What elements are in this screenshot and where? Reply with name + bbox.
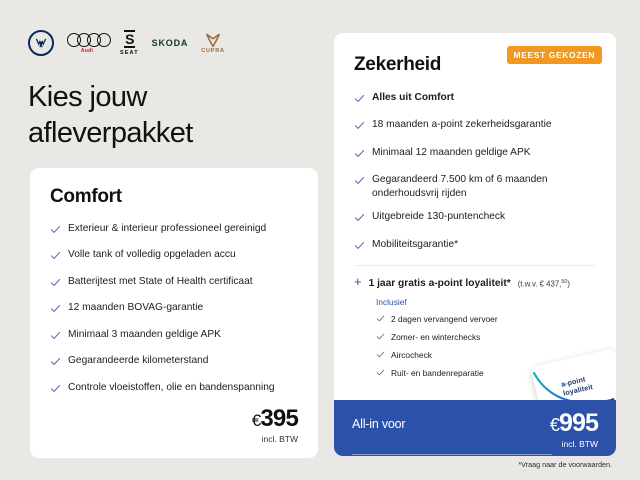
- feature-label: 18 maanden a-point zekerheidsgarantie: [372, 118, 552, 131]
- sub-feature-label: 2 dagen vervangend vervoer: [391, 314, 498, 324]
- list-item: 12 maanden BOVAG-garantie: [50, 301, 298, 318]
- check-icon: [376, 348, 385, 361]
- feature-label: Minimaal 12 maanden geldige APK: [372, 146, 531, 159]
- check-icon: [354, 146, 365, 163]
- feature-label: Mobiliteitsgarantie*: [372, 238, 458, 251]
- check-icon: [354, 91, 365, 108]
- page-title: Kies jouw afleverpakket: [28, 80, 318, 152]
- feature-label: Controle vloeistoffen, olie en bandenspa…: [68, 381, 275, 394]
- comfort-price: €395: [50, 407, 298, 431]
- comfort-feature-list: Exterieur & interieur professioneel gere…: [50, 222, 298, 398]
- brand-logo-row: Audi S SEAT SKODA CUPRA: [28, 30, 225, 56]
- list-item: Mobiliteitsgarantie*: [354, 238, 596, 255]
- check-icon: [354, 238, 365, 255]
- status-badge: MEEST GEKOZEN: [507, 46, 602, 64]
- cupra-wordmark: CUPRA: [201, 48, 225, 54]
- feature-label: Batterijtest met State of Health certifi…: [68, 275, 253, 288]
- zekerheid-package-card[interactable]: MEEST GEKOZEN Zekerheid Alles uit Comfor…: [334, 33, 616, 443]
- loyalty-value-prefix: (t.w.v. € 437,: [518, 279, 562, 288]
- feature-label: Gegarandeerde kilometerstand: [68, 354, 208, 367]
- audi-logo: Audi: [67, 33, 107, 54]
- comfort-price-value: 395: [260, 405, 298, 432]
- inclusief-label: Inclusief: [376, 297, 596, 307]
- list-item: Uitgebreide 130-puntencheck: [354, 210, 596, 227]
- list-item: Batterijtest met State of Health certifi…: [50, 275, 298, 292]
- section-divider: [354, 265, 596, 266]
- list-item: Gegarandeerde kilometerstand: [50, 354, 298, 371]
- left-column: Audi S SEAT SKODA CUPRA Kies jouw afleve…: [0, 0, 330, 480]
- list-item: Zomer- en winterchecks: [376, 330, 596, 343]
- cupra-tribal-icon: [205, 33, 221, 47]
- check-icon: [50, 222, 61, 239]
- seat-s-icon: S: [124, 30, 134, 48]
- cupra-logo: CUPRA: [201, 33, 225, 54]
- check-icon: [50, 328, 61, 345]
- seat-wordmark: SEAT: [120, 50, 139, 56]
- zekerheid-feature-list: Alles uit Comfort18 maanden a-point zeke…: [354, 91, 596, 255]
- list-item: Volle tank of volledig opgeladen accu: [50, 248, 298, 265]
- all-in-label: All-in voor: [352, 411, 405, 431]
- terms-note: *Vraag naar de voorwaarden.: [334, 460, 616, 469]
- list-item: Exterieur & interieur professioneel gere…: [50, 222, 298, 239]
- sub-feature-label: Ruit- en bandenreparatie: [391, 368, 484, 378]
- comfort-title: Comfort: [50, 186, 298, 208]
- list-item: Controle vloeistoffen, olie en bandenspa…: [50, 381, 298, 398]
- footer-rule: [352, 454, 552, 455]
- promo-poster: Audi S SEAT SKODA CUPRA Kies jouw afleve…: [0, 0, 640, 480]
- feature-label: 12 maanden BOVAG-garantie: [68, 301, 203, 314]
- loyalty-value-suffix: ): [567, 279, 570, 288]
- check-icon: [376, 312, 385, 325]
- check-icon: [50, 354, 61, 371]
- volkswagen-logo: [28, 30, 54, 56]
- audi-rings-icon: [67, 33, 107, 47]
- check-icon: [50, 301, 61, 318]
- loyalty-addon-row: + 1 jaar gratis a-point loyaliteit* (t.w…: [354, 275, 596, 289]
- list-item: 18 maanden a-point zekerheidsgarantie: [354, 118, 596, 135]
- feature-label: Uitgebreide 130-puntencheck: [372, 210, 505, 223]
- list-item: Gegarandeerd 7.500 km of 6 maanden onder…: [354, 173, 596, 200]
- skoda-logo: SKODA: [152, 38, 189, 48]
- list-item: 2 dagen vervangend vervoer: [376, 312, 596, 325]
- zekerheid-price-value: 995: [559, 409, 598, 437]
- zekerheid-price-note: incl. BTW: [550, 439, 598, 449]
- plus-icon: +: [354, 275, 362, 288]
- feature-label: Volle tank of volledig opgeladen accu: [68, 248, 236, 261]
- footer-price-row: All-in voor €995 incl. BTW: [352, 411, 598, 449]
- feature-label: Minimaal 3 maanden geldige APK: [68, 328, 221, 341]
- check-icon: [50, 248, 61, 265]
- feature-label: Alles uit Comfort: [372, 91, 454, 104]
- check-icon: [354, 210, 365, 227]
- list-item: Alles uit Comfort: [354, 91, 596, 108]
- check-icon: [50, 275, 61, 292]
- seat-logo: S SEAT: [120, 30, 139, 56]
- comfort-price-note: incl. BTW: [50, 434, 298, 444]
- list-item: Minimaal 12 maanden geldige APK: [354, 146, 596, 163]
- feature-label: Gegarandeerd 7.500 km of 6 maanden onder…: [372, 173, 596, 200]
- feature-label: Exterieur & interieur professioneel gere…: [68, 222, 266, 235]
- comfort-price-block: €395 incl. BTW: [50, 407, 298, 444]
- audi-wordmark: Audi: [81, 48, 93, 54]
- zekerheid-price: €995: [550, 411, 598, 436]
- check-icon: [354, 118, 365, 135]
- list-item: Minimaal 3 maanden geldige APK: [50, 328, 298, 345]
- check-icon: [376, 366, 385, 379]
- check-icon: [50, 381, 61, 398]
- sub-feature-label: Zomer- en winterchecks: [391, 332, 480, 342]
- loyalty-title: 1 jaar gratis a-point loyaliteit*: [369, 278, 511, 289]
- zekerheid-price-footer: All-in voor €995 incl. BTW: [334, 400, 616, 456]
- check-icon: [376, 330, 385, 343]
- skoda-wordmark: SKODA: [152, 38, 189, 48]
- loyalty-value: (t.w.v. € 437,50): [518, 279, 570, 289]
- comfort-package-card[interactable]: Comfort Exterieur & interieur profession…: [30, 168, 318, 458]
- sub-feature-label: Aircocheck: [391, 350, 432, 360]
- zekerheid-currency: €: [550, 415, 559, 435]
- vw-roundel-icon: [28, 30, 54, 56]
- check-icon: [354, 173, 365, 190]
- footer-price-block: €995 incl. BTW: [550, 411, 598, 449]
